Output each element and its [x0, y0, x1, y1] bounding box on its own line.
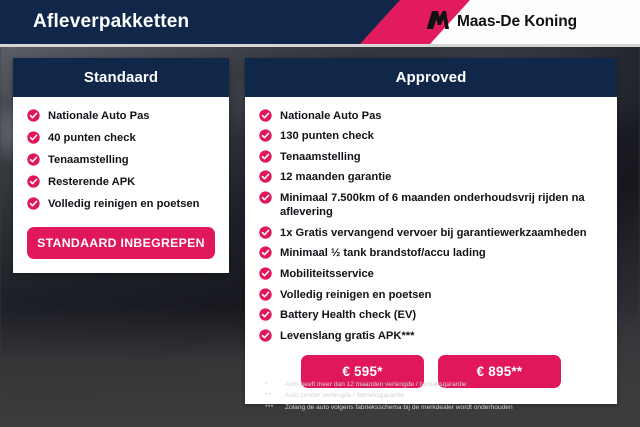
page-title: Afleverpakketten — [33, 0, 189, 44]
list-item: Tenaamstelling — [27, 152, 219, 167]
feature-label: 130 punten check — [280, 129, 374, 144]
feature-label: Mobiliteitsservice — [280, 267, 374, 282]
footnote-text: Auto zonder verlengde / fabrieksgarantie — [285, 390, 625, 401]
list-item: 130 punten check — [259, 129, 607, 144]
feature-label: Resterende APK — [48, 174, 135, 189]
feature-label: 1x Gratis vervangend vervoer bij garanti… — [280, 225, 587, 240]
feature-label: Minimaal ½ tank brandstof/accu lading — [280, 246, 486, 261]
list-item: 12 maanden garantie — [259, 170, 607, 185]
list-item: 40 punten check — [27, 130, 219, 145]
standaard-inbegrepen-button[interactable]: STANDAARD INBEGREPEN — [27, 227, 215, 259]
check-circle-icon — [259, 191, 272, 204]
feature-label: Levenslang gratis APK*** — [280, 328, 415, 343]
check-circle-icon — [259, 308, 272, 321]
card-standaard: Standaard Nationale Auto Pas — [13, 58, 229, 273]
feature-label: Minimaal 7.500km of 6 maanden onderhouds… — [280, 190, 607, 220]
list-item: Nationale Auto Pas — [27, 108, 219, 123]
footnote-marker: *** — [265, 402, 285, 413]
footnote-text: Zolang de auto volgens fabrieksschema bi… — [285, 402, 625, 413]
card-standaard-body: Nationale Auto Pas 40 punten check — [13, 97, 229, 273]
footnote-text: Auto heeft meer dan 12 maanden verlengde… — [285, 379, 625, 390]
footnote-item: ** Auto zonder verlengde / fabrieksgaran… — [265, 390, 625, 401]
check-circle-icon — [259, 246, 272, 259]
check-circle-icon — [259, 129, 272, 142]
check-circle-icon — [259, 226, 272, 239]
check-circle-icon — [27, 175, 40, 188]
header-underline — [0, 44, 640, 47]
card-approved: Approved Nationale Auto Pas — [245, 58, 617, 404]
feature-label: Volledig reinigen en poetsen — [280, 287, 431, 302]
check-circle-icon — [27, 197, 40, 210]
feature-label: Nationale Auto Pas — [280, 108, 382, 123]
list-item: Levenslang gratis APK*** — [259, 328, 607, 343]
list-item: Resterende APK — [27, 174, 219, 189]
check-circle-icon — [27, 131, 40, 144]
brand-logo: Maas-De Koning — [426, 0, 577, 44]
feature-label: Volledig reinigen en poetsen — [48, 196, 199, 211]
list-item: Volledig reinigen en poetsen — [259, 287, 607, 302]
check-circle-icon — [259, 170, 272, 183]
footnote-marker: * — [265, 379, 285, 390]
list-item: 1x Gratis vervangend vervoer bij garanti… — [259, 225, 607, 240]
feature-label: Nationale Auto Pas — [48, 108, 150, 123]
list-item: Tenaamstelling — [259, 149, 607, 164]
check-circle-icon — [259, 267, 272, 280]
check-circle-icon — [259, 288, 272, 301]
footnote-marker: ** — [265, 390, 285, 401]
feature-label: 12 maanden garantie — [280, 170, 391, 185]
list-item: Minimaal 7.500km of 6 maanden onderhouds… — [259, 190, 607, 220]
feature-label: 40 punten check — [48, 130, 136, 145]
maas-de-koning-m-logo-icon — [426, 10, 450, 35]
list-item: Minimaal ½ tank brandstof/accu lading — [259, 246, 607, 261]
brand-name: Maas-De Koning — [457, 13, 577, 31]
list-item: Battery Health check (EV) — [259, 308, 607, 323]
standaard-cta-wrapper: STANDAARD INBEGREPEN — [13, 211, 229, 259]
check-circle-icon — [259, 329, 272, 342]
feature-label: Tenaamstelling — [280, 149, 361, 164]
list-item: Nationale Auto Pas — [259, 108, 607, 123]
check-circle-icon — [259, 109, 272, 122]
check-circle-icon — [27, 153, 40, 166]
check-circle-icon — [259, 150, 272, 163]
list-item: Volledig reinigen en poetsen — [27, 196, 219, 211]
standaard-feature-list: Nationale Auto Pas 40 punten check — [13, 108, 229, 211]
feature-label: Tenaamstelling — [48, 152, 129, 167]
card-standaard-title: Standaard — [13, 58, 229, 97]
card-approved-body: Nationale Auto Pas 130 punten check — [245, 97, 617, 404]
footnote-item: * Auto heeft meer dan 12 maanden verleng… — [265, 379, 625, 390]
check-circle-icon — [27, 109, 40, 122]
footnotes: * Auto heeft meer dan 12 maanden verleng… — [265, 379, 625, 413]
page-header: Afleverpakketten Maas-De Koning — [0, 0, 640, 44]
footnote-item: *** Zolang de auto volgens fabrieksschem… — [265, 402, 625, 413]
feature-label: Battery Health check (EV) — [280, 308, 416, 323]
list-item: Mobiliteitsservice — [259, 267, 607, 282]
card-approved-title: Approved — [245, 58, 617, 97]
approved-feature-list: Nationale Auto Pas 130 punten check — [245, 108, 617, 343]
